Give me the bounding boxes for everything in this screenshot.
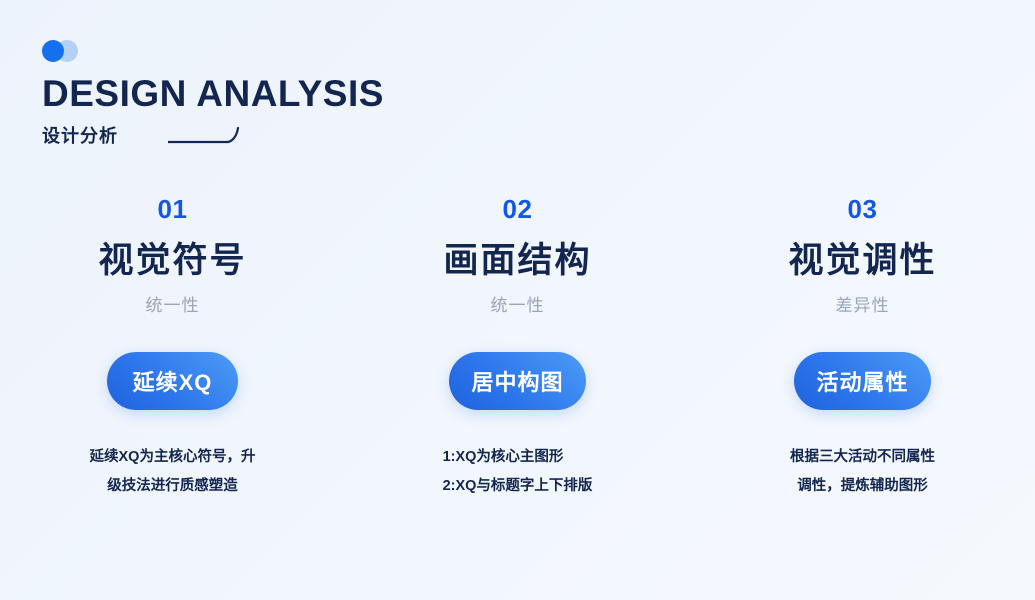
analysis-column-03: 03 视觉调性 差异性 活动属性 根据三大活动不同属性 调性，提炼辅助图形 (690, 196, 1035, 515)
slide-header: DESIGN ANALYSIS 设计分析 (42, 40, 384, 148)
column-description: 延续XQ为主核心符号，升 级技法进行质感塑造 (90, 443, 256, 501)
column-pill-badge[interactable]: 活动属性 (794, 352, 930, 410)
logo-circle-dark-icon (42, 40, 64, 62)
column-pill-badge[interactable]: 延续XQ (107, 352, 238, 410)
subtitle-row: 设计分析 (42, 122, 384, 148)
analysis-column-02: 02 画面结构 统一性 居中构图 1:XQ为核心主图形 2:XQ与标题字上下排版 (345, 196, 690, 515)
column-tagline: 统一性 (146, 297, 200, 314)
slide-canvas: DESIGN ANALYSIS 设计分析 01 视觉符号 统一性 延续XQ 延续… (0, 0, 1035, 600)
column-tagline: 统一性 (491, 297, 545, 314)
column-description: 根据三大活动不同属性 调性，提炼辅助图形 (790, 443, 935, 501)
analysis-columns: 01 视觉符号 统一性 延续XQ 延续XQ为主核心符号，升 级技法进行质感塑造 … (0, 196, 1035, 515)
page-title: DESIGN ANALYSIS (42, 74, 384, 113)
column-heading: 视觉符号 (98, 242, 246, 281)
logo-mark (42, 40, 86, 62)
flourish-underline-icon (166, 124, 250, 146)
column-heading: 视觉调性 (788, 242, 936, 281)
column-description: 1:XQ为核心主图形 2:XQ与标题字上下排版 (443, 443, 593, 501)
analysis-column-01: 01 视觉符号 统一性 延续XQ 延续XQ为主核心符号，升 级技法进行质感塑造 (0, 196, 345, 515)
column-number: 03 (848, 196, 878, 222)
page-subtitle: 设计分析 (42, 122, 118, 148)
column-pill-badge[interactable]: 居中构图 (449, 352, 585, 410)
column-heading: 画面结构 (443, 242, 591, 281)
column-tagline: 差异性 (836, 297, 890, 314)
column-number: 01 (158, 196, 188, 222)
column-number: 02 (503, 196, 533, 222)
